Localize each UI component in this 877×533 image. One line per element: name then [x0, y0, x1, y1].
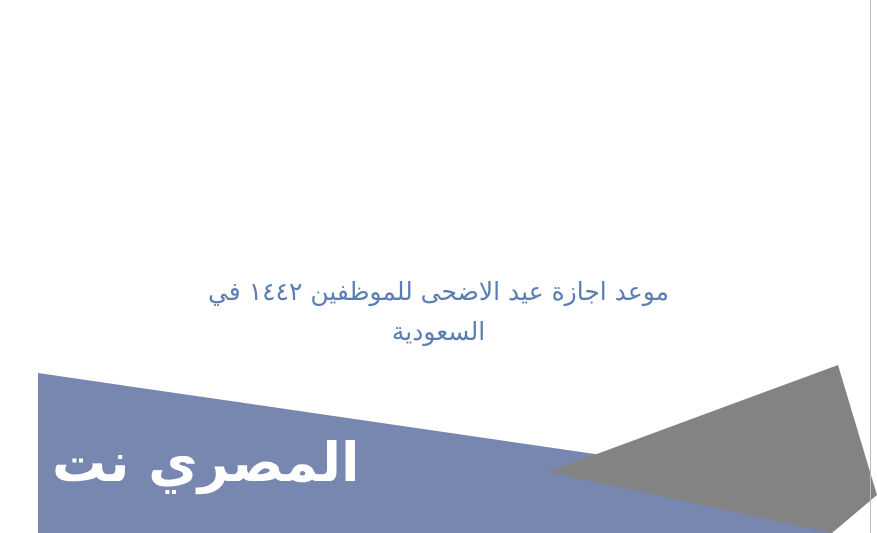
page-title-line-1: موعد اجازة عيد الاضحى للموظفين ١٤٤٢ في [0, 272, 877, 312]
gray-banner-shape [548, 365, 877, 533]
right-edge-rule [870, 0, 871, 533]
page-title-line-2: السعودية [0, 312, 877, 352]
cover-image-canvas: موعد اجازة عيد الاضحى للموظفين ١٤٤٢ في ا… [0, 0, 877, 533]
page-title: موعد اجازة عيد الاضحى للموظفين ١٤٤٢ في ا… [0, 272, 877, 352]
brand-logo-text: المصري نت [52, 432, 360, 494]
